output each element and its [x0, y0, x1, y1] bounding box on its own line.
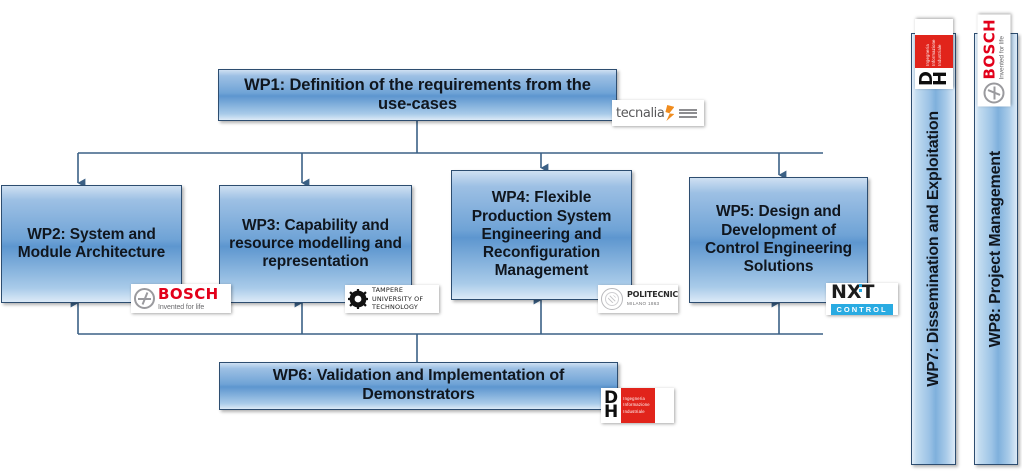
bosch-logo-rotated: BOSCH Invented for life — [978, 14, 1011, 106]
wp3-label: WP3: Capability and resource modelling a… — [220, 215, 411, 274]
bosch-logo-inner: BOSCH Invented for life — [978, 15, 1011, 107]
wp5-label: WP5: Design and Development of Control E… — [690, 201, 867, 278]
gear-icon — [348, 289, 368, 309]
wp1-label: WP1: Definition of the requirements from… — [219, 74, 616, 117]
bosch-text: BOSCH Invented for life — [158, 287, 219, 311]
dih-logo-inner: D H Ingegneria Informazione Industriale — [915, 19, 953, 89]
tecnalia-flame-icon — [665, 105, 674, 121]
dih-monogram: D H — [601, 388, 621, 423]
tecnalia-logo: tecnalia — [612, 100, 704, 126]
politecnico-subtitle: MILANO 1863 — [627, 302, 678, 307]
wp1-box[interactable]: WP1: Definition of the requirements from… — [218, 69, 617, 121]
dih-logo: D H Ingegneria Informazione Industriale — [601, 388, 674, 423]
tampere-university-logo: TAMPERE UNIVERSITY OF TECHNOLOGY — [345, 285, 439, 313]
wp8-label: WP8: Project Management — [987, 151, 1005, 347]
nxt-subtitle: CONTROL — [831, 304, 893, 315]
politecnico-text: POLITECNICO MILANO 1863 — [627, 291, 678, 306]
wp4-box[interactable]: WP4: Flexible Production System Engineer… — [451, 170, 632, 300]
wp7-bar[interactable]: WP7: Dissemination and Exploitation — [911, 33, 956, 465]
wp6-box[interactable]: WP6: Validation and Implementation of De… — [219, 362, 618, 410]
tampere-line3: TECHNOLOGY — [372, 303, 418, 311]
bosch-wordmark: BOSCH — [158, 287, 219, 302]
wp7-label: WP7: Dissemination and Exploitation — [925, 111, 943, 387]
wp2-label: WP2: System and Module Architecture — [2, 224, 181, 265]
nxt-dots-icon — [859, 284, 862, 294]
dih-mark: D H Ingegneria Informazione Industriale — [601, 388, 674, 423]
tampere-line1: TAMPERE — [372, 286, 403, 294]
tampere-line2: UNIVERSITY OF — [372, 295, 423, 303]
dih-monogram-bottom: H — [934, 71, 948, 86]
dih-block-text: Ingegneria Informazione Industriale — [925, 35, 944, 68]
wp6-label: WP6: Validation and Implementation of De… — [220, 365, 617, 407]
dih-monogram: D H — [915, 68, 953, 89]
tampere-text: TAMPERE UNIVERSITY OF TECHNOLOGY — [372, 286, 423, 312]
nxtcontrol-logo: NXT CONTROL — [826, 283, 898, 315]
diagram-canvas: WP1: Definition of the requirements from… — [0, 0, 1022, 472]
politecnico-wordmark: POLITECNICO — [627, 291, 678, 299]
wp4-label: WP4: Flexible Production System Engineer… — [452, 187, 631, 282]
nxt-wordmark-text: NXT — [831, 283, 875, 303]
dih-red-block: Ingegneria Informazione Industriale — [621, 388, 655, 423]
dih-mark: D H Ingegneria Informazione Industriale — [915, 19, 953, 89]
dih-logo-rotated: D H Ingegneria Informazione Industriale — [915, 19, 953, 89]
tecnalia-wordmark: tecnalia — [616, 106, 664, 121]
tecnalia-barcode-icon — [679, 109, 697, 118]
bosch-tagline: Invented for life — [999, 19, 1006, 80]
bosch-text: BOSCH Invented for life — [982, 19, 1006, 80]
dih-monogram-bottom: H — [604, 406, 618, 419]
bosch-tagline: Invented for life — [158, 304, 219, 311]
seal-icon — [601, 288, 623, 310]
bosch-wordmark: BOSCH — [982, 19, 997, 80]
nxt-wordmark: NXT — [831, 283, 893, 302]
dih-red-block: Ingegneria Informazione Industriale — [915, 35, 953, 68]
bosch-anchor-icon — [984, 83, 1005, 104]
politecnico-milano-logo: POLITECNICO MILANO 1863 — [598, 285, 678, 313]
dih-block-text: Ingegneria Informazione Industriale — [621, 396, 655, 415]
bosch-anchor-icon — [134, 288, 155, 309]
bosch-logo: BOSCH Invented for life — [131, 284, 231, 313]
